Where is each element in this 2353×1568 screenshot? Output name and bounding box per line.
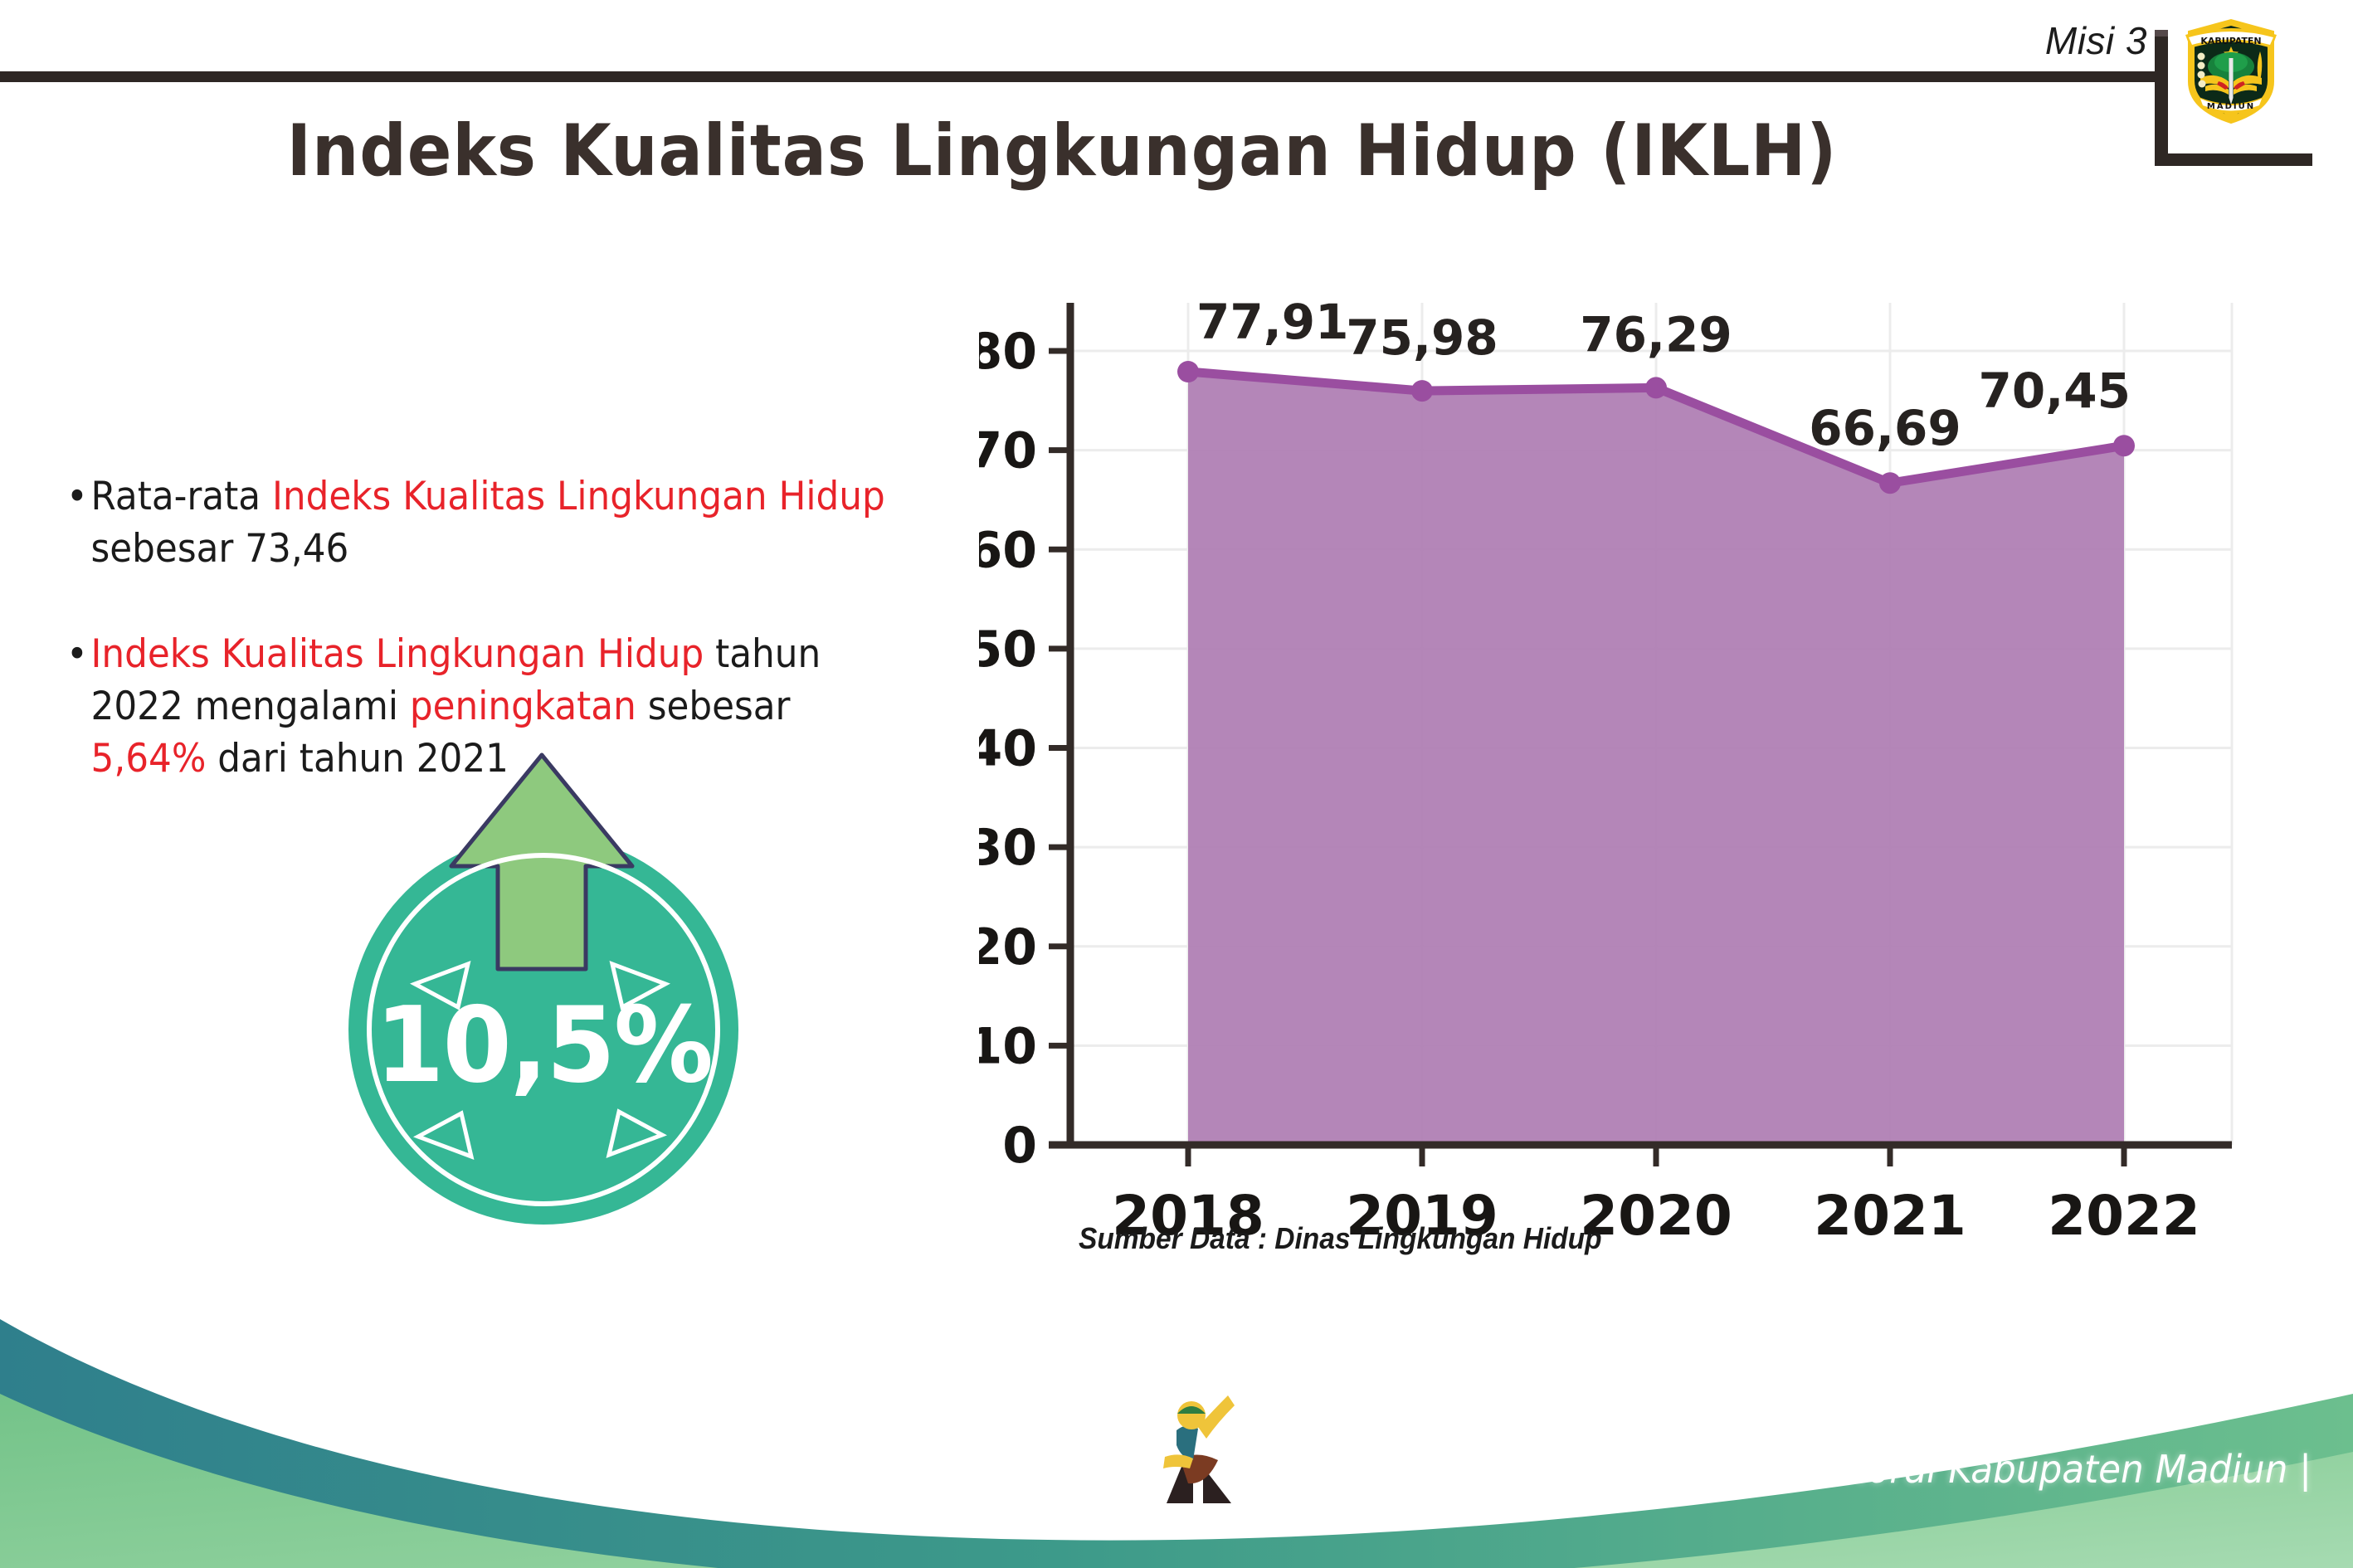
bullet-segment-highlight: 5,64%: [91, 736, 207, 782]
chart-canvas: 77,9175,9876,2966,6970,45010203040506070…: [979, 282, 2273, 1278]
svg-text:KABUPATEN: KABUPATEN: [2200, 36, 2261, 46]
misi-label: Misi 3: [2045, 18, 2147, 63]
chart-data-label: 66,69: [1809, 400, 1961, 456]
bullet-segment: sebesar: [636, 684, 791, 729]
badge-value: 10,5%: [358, 850, 729, 1239]
chart-data-label: 75,98: [1346, 309, 1498, 366]
list-item: • Rata-rata Indeks Kualitas Lingkungan H…: [66, 471, 908, 576]
chart-y-tick-label: 50: [979, 621, 1037, 679]
chart-y-tick-label: 30: [979, 819, 1037, 877]
source-note: Sumber Data : Dinas Lingkungan Hidup: [1079, 1221, 1602, 1256]
chart-y-tick-label: 80: [979, 323, 1037, 381]
chart-y-tick-label: 40: [979, 720, 1037, 778]
footer-banner: Media Infografis Data Statistik Sektoral…: [0, 1294, 2353, 1568]
bullet-segment: Rata-rata: [91, 474, 272, 519]
bullet-segment: sebesar 73,46: [91, 526, 349, 572]
chart-data-label: 70,45: [1979, 363, 2131, 419]
chart-x-tick-label: 2020: [1580, 1184, 1732, 1248]
kabupaten-madiun-crest-icon: KABUPATEN MA: [2180, 10, 2282, 126]
bullet-segment-highlight: peningkatan: [410, 684, 636, 729]
chart-y-tick-label: 0: [1002, 1117, 1037, 1175]
chart-y-tick-label: 20: [979, 918, 1037, 976]
chart-data-label: 76,29: [1580, 306, 1732, 363]
increase-badge: 10,5%: [334, 752, 748, 1200]
svg-text:MADIUN: MADIUN: [2207, 102, 2255, 111]
chart-x-tick-label: 2022: [2048, 1184, 2200, 1248]
chart-y-tick-label: 60: [979, 521, 1037, 579]
logo-bracket-vertical: [2155, 37, 2168, 166]
iklh-area-chart: 77,9175,9876,2966,6970,45010203040506070…: [979, 282, 2273, 1278]
chart-x-tick-label: 2021: [1814, 1184, 1966, 1248]
bullet-segment-highlight: Indeks Kualitas Lingkungan Hidup: [272, 474, 885, 519]
footer-text: Media Infografis Data Statistik Sektoral…: [1226, 1447, 2312, 1492]
header-rule: [0, 71, 2167, 82]
logo-bracket-horizontal: [2155, 153, 2312, 166]
bullet-text: Rata-rata Indeks Kualitas Lingkungan Hid…: [91, 471, 908, 576]
bullet-marker: •: [66, 629, 88, 681]
bullet-segment-highlight: Indeks Kualitas Lingkungan Hidup: [91, 631, 704, 677]
bullet-marker: •: [66, 471, 88, 523]
chart-data-label: 77,91: [1196, 294, 1348, 350]
page-title: Indeks Kualitas Lingkungan Hidup (IKLH): [85, 110, 2039, 192]
chart-y-tick-label: 70: [979, 422, 1037, 480]
infographic-slide: Misi 3 KABUPATEN: [0, 0, 2353, 1568]
chart-y-tick-label: 10: [979, 1017, 1037, 1075]
